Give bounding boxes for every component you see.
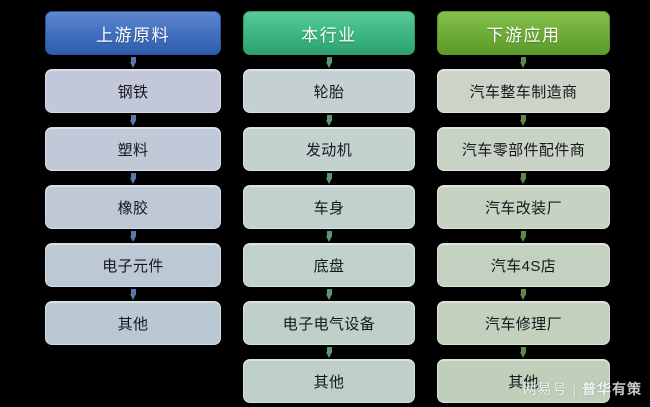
- node-industry-5: 电子电气设备: [243, 301, 415, 345]
- node-label: 其他: [314, 371, 345, 392]
- arrow-down-icon: [130, 289, 137, 300]
- node-label: 其他: [118, 313, 149, 334]
- connector-arrow: [437, 55, 610, 69]
- node-label: 发动机: [306, 139, 352, 160]
- arrow-down-icon: [326, 115, 333, 126]
- node-downstream-1: 汽车整车制造商: [437, 69, 610, 113]
- arrow-down-icon: [520, 289, 527, 300]
- connector-arrow: [243, 171, 415, 185]
- node-industry-4: 底盘: [243, 243, 415, 287]
- arrow-down-icon: [520, 173, 527, 184]
- node-label: 橡胶: [118, 197, 149, 218]
- connector-arrow: [243, 55, 415, 69]
- connector-arrow: [45, 171, 221, 185]
- node-downstream-6: 其他: [437, 359, 610, 403]
- connector-arrow: [437, 345, 610, 359]
- node-label: 钢铁: [118, 81, 149, 102]
- arrow-down-icon: [520, 57, 527, 68]
- arrow-down-icon: [130, 115, 137, 126]
- node-label: 其他: [508, 371, 539, 392]
- connector-arrow: [45, 229, 221, 243]
- arrow-down-icon: [326, 231, 333, 242]
- node-label: 汽车4S店: [491, 255, 556, 276]
- node-upstream-5: 其他: [45, 301, 221, 345]
- node-industry-1: 轮胎: [243, 69, 415, 113]
- node-downstream-3: 汽车改装厂: [437, 185, 610, 229]
- node-label: 汽车改装厂: [485, 197, 562, 218]
- connector-arrow: [437, 229, 610, 243]
- arrow-down-icon: [326, 289, 333, 300]
- connector-arrow: [45, 113, 221, 127]
- node-downstream-2: 汽车零部件配件商: [437, 127, 610, 171]
- connector-arrow: [45, 55, 221, 69]
- connector-arrow: [437, 113, 610, 127]
- column-header-upstream: 上游原料: [45, 11, 221, 55]
- arrow-down-icon: [520, 115, 527, 126]
- column-header-industry-label: 本行业: [301, 21, 357, 46]
- column-header-downstream-label: 下游应用: [487, 21, 561, 46]
- connector-arrow: [45, 287, 221, 301]
- column-downstream: 下游应用 汽车整车制造商 汽车零部件配件商 汽车改装厂 汽车4S店: [437, 11, 610, 403]
- arrow-down-icon: [520, 347, 527, 358]
- column-industry: 本行业 轮胎 发动机 车身 底盘 电子电气设备: [243, 11, 415, 403]
- node-label: 电子电气设备: [283, 313, 375, 334]
- node-upstream-1: 钢铁: [45, 69, 221, 113]
- node-industry-2: 发动机: [243, 127, 415, 171]
- arrow-down-icon: [326, 347, 333, 358]
- node-label: 底盘: [314, 255, 345, 276]
- column-header-downstream: 下游应用: [437, 11, 610, 55]
- node-label: 汽车修理厂: [485, 313, 562, 334]
- node-label: 汽车零部件配件商: [462, 139, 585, 160]
- column-upstream: 上游原料 钢铁 塑料 橡胶 电子元件 其他: [45, 11, 221, 345]
- connector-arrow: [243, 229, 415, 243]
- node-downstream-4: 汽车4S店: [437, 243, 610, 287]
- node-upstream-2: 塑料: [45, 127, 221, 171]
- node-industry-3: 车身: [243, 185, 415, 229]
- column-header-industry: 本行业: [243, 11, 415, 55]
- node-upstream-3: 橡胶: [45, 185, 221, 229]
- connector-arrow: [437, 171, 610, 185]
- arrow-down-icon: [130, 173, 137, 184]
- arrow-down-icon: [326, 57, 333, 68]
- node-industry-6: 其他: [243, 359, 415, 403]
- node-label: 车身: [314, 197, 345, 218]
- arrow-down-icon: [130, 231, 137, 242]
- node-label: 电子元件: [102, 255, 164, 276]
- industry-chain-diagram: 上游原料 钢铁 塑料 橡胶 电子元件 其他: [0, 0, 650, 407]
- node-label: 轮胎: [314, 81, 345, 102]
- arrow-down-icon: [130, 57, 137, 68]
- connector-arrow: [243, 113, 415, 127]
- node-upstream-4: 电子元件: [45, 243, 221, 287]
- arrow-down-icon: [326, 173, 333, 184]
- connector-arrow: [243, 345, 415, 359]
- node-label: 汽车整车制造商: [470, 81, 578, 102]
- column-header-upstream-label: 上游原料: [96, 21, 170, 46]
- node-label: 塑料: [118, 139, 149, 160]
- arrow-down-icon: [520, 231, 527, 242]
- connector-arrow: [243, 287, 415, 301]
- node-downstream-5: 汽车修理厂: [437, 301, 610, 345]
- connector-arrow: [437, 287, 610, 301]
